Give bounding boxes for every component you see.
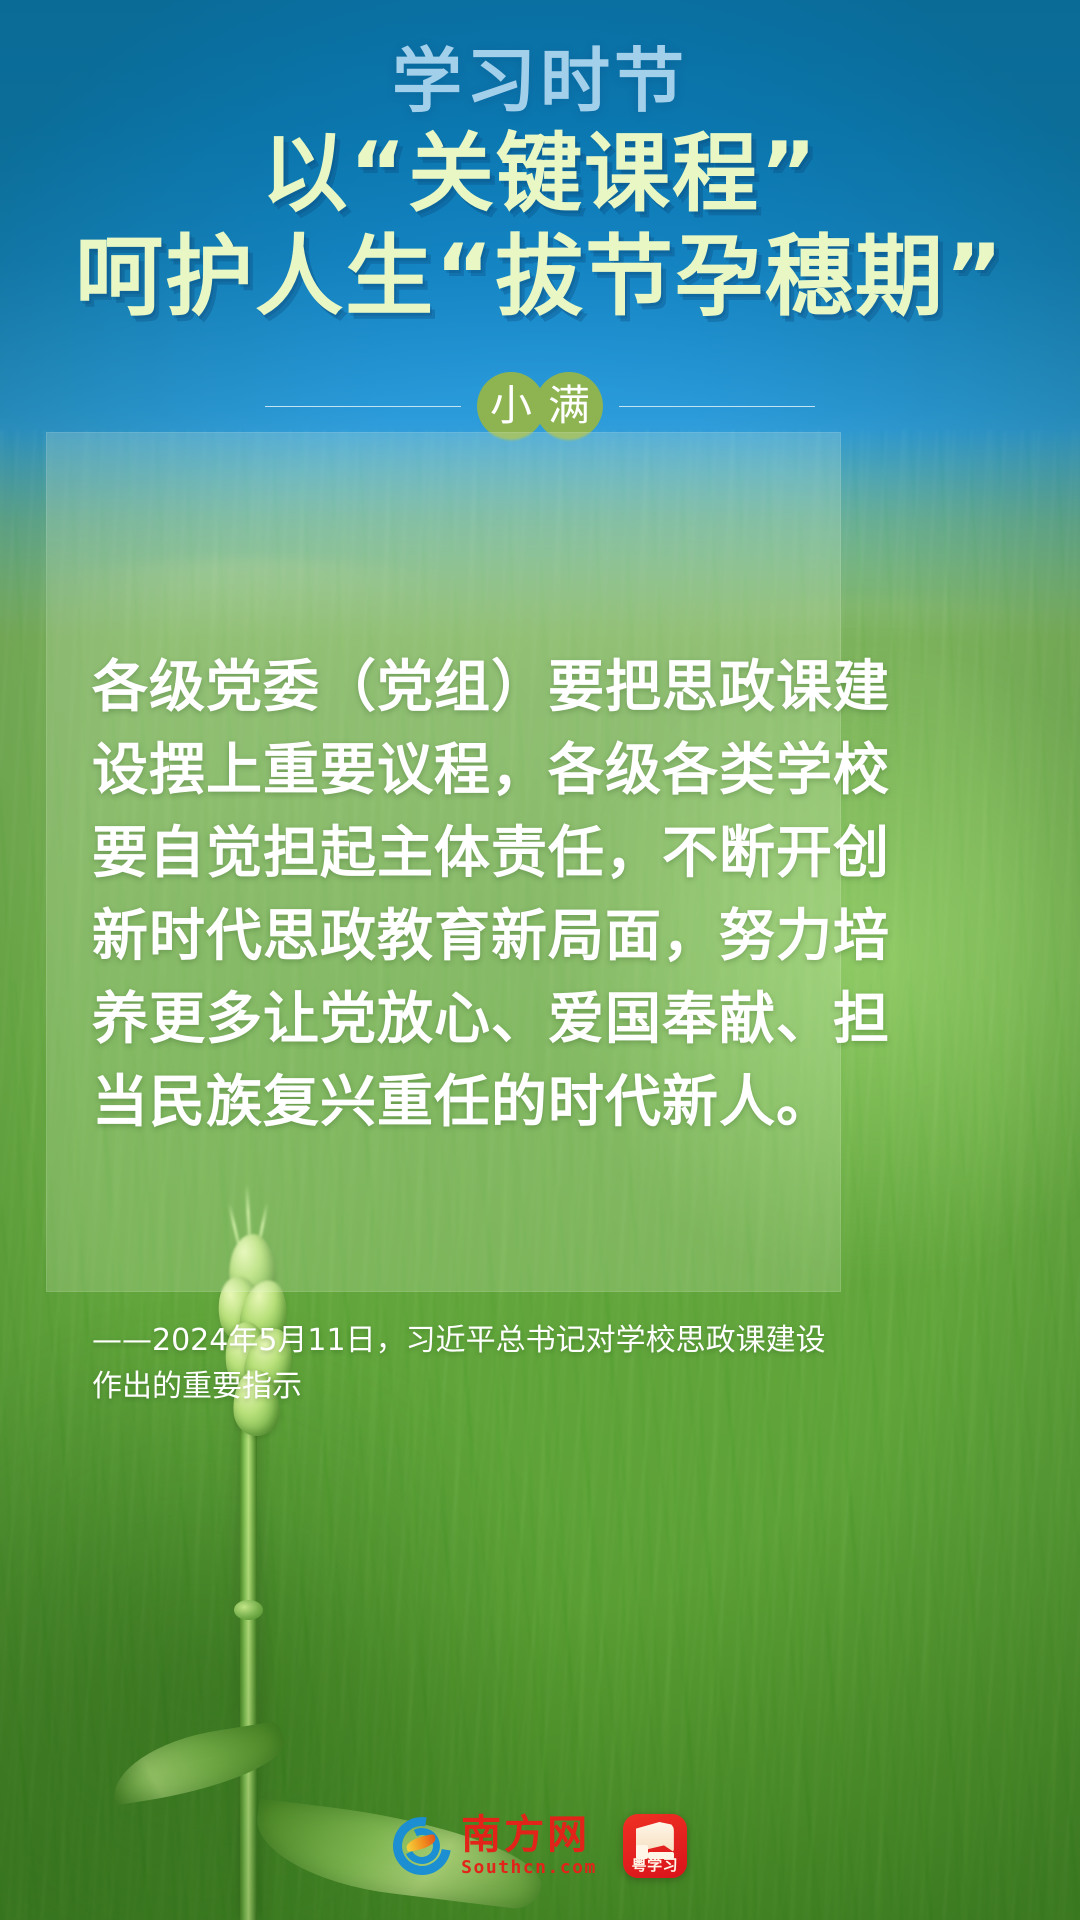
southcn-wordmark: 南方网 Southcn.com <box>461 1815 597 1877</box>
southcn-logo[interactable]: 南方网 Southcn.com <box>393 1815 597 1877</box>
quote-line: 各级党委（党组）要把思政课建 <box>92 646 832 729</box>
wheat-node <box>234 1600 263 1620</box>
title-line-2: 呵护人生“拔节孕穗期” <box>0 229 1080 324</box>
solar-term-badge: 小 满 <box>0 372 1080 440</box>
brand-logo: 学习时节 <box>0 46 1080 116</box>
southcn-s-icon <box>393 1817 451 1875</box>
quote-line: 要自觉担起主体责任，不断开创 <box>92 812 832 895</box>
divider-line-left <box>265 406 461 407</box>
southcn-name-cn: 南方网 <box>461 1815 590 1855</box>
yuexue-app-label: 粤学习 <box>623 1858 687 1873</box>
southcn-name-en: Southcn.com <box>461 1859 597 1877</box>
quote-line: 当民族复兴重任的时代新人。 <box>92 1061 832 1144</box>
quote-line: 新时代思政教育新局面，努力培 <box>92 895 832 978</box>
solar-term-char-2: 满 <box>535 372 603 440</box>
poster-canvas: 学习时节 以“关键课程” 呵护人生“拔节孕穗期” 小 满 各级党委（党组）要把思… <box>0 0 1080 1920</box>
yuexue-app-icon[interactable]: 粤学习 <box>623 1814 687 1878</box>
quote-text: 各级党委（党组）要把思政课建 设摆上重要议程，各级各类学校 要自觉担起主体责任，… <box>92 646 832 1144</box>
solar-term-circles: 小 满 <box>477 372 603 440</box>
page-title: 以“关键课程” 呵护人生“拔节孕穗期” <box>0 128 1080 324</box>
quote-attribution: ——2024年5月11日，习近平总书记对学校思政课建设作出的重要指示 <box>92 1318 834 1410</box>
quote-line: 设摆上重要议程，各级各类学校 <box>92 729 832 812</box>
quote-line: 养更多让党放心、爱国奉献、担 <box>92 978 832 1061</box>
footer-logos: 南方网 Southcn.com 粤学习 <box>0 1814 1080 1878</box>
title-line-1: 以“关键课程” <box>0 128 1080 221</box>
divider-line-right <box>619 406 815 407</box>
